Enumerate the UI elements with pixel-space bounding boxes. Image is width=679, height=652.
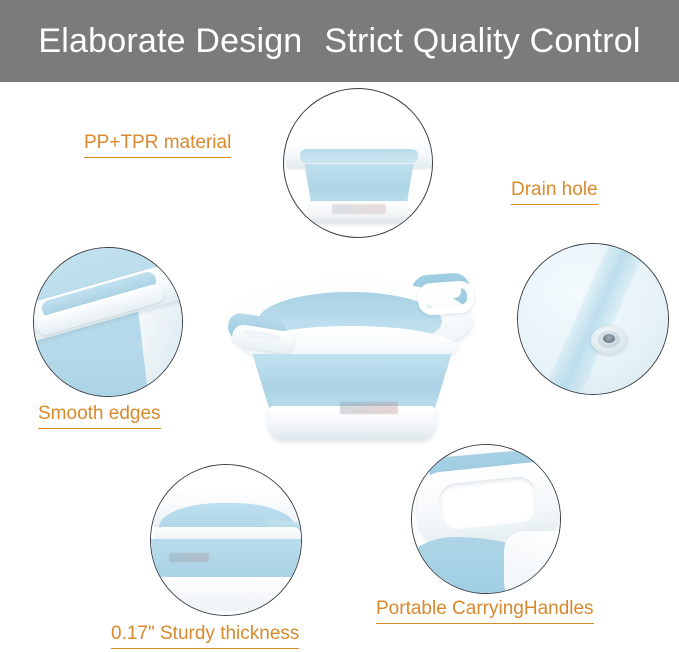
callout-image-drain (517, 243, 669, 395)
callout-label-edges: Smooth edges (38, 402, 161, 429)
drain-hole-opening (603, 334, 615, 343)
callout-label-thickness: 0.17" Sturdy thickness (111, 622, 299, 649)
callout-image-handles (411, 444, 561, 594)
header-title-right: Strict Quality Control (324, 22, 640, 61)
carrying-handle-illustration (412, 445, 560, 593)
wall-thickness-illustration (151, 465, 301, 615)
basin-white-wall (504, 531, 561, 594)
brand-logo (340, 402, 398, 414)
callout-image-material (283, 88, 433, 238)
smooth-edge-illustration (34, 248, 182, 396)
callout-label-material: PP+TPR material (84, 131, 231, 158)
basin-inner-surface (300, 149, 418, 163)
callout-image-thickness (150, 464, 302, 616)
handle-right-white (417, 280, 475, 316)
basin-base-white (153, 577, 302, 611)
basin-front-illustration (284, 89, 432, 237)
page-title: Elaborate Design Strict Quality Control (0, 0, 679, 82)
product-image (222, 272, 480, 452)
drain-hole-illustration (518, 244, 668, 394)
brand-logo (169, 553, 209, 562)
infographic-page: Elaborate Design Strict Quality Control … (0, 0, 679, 652)
brand-logo (332, 204, 386, 214)
callout-label-drain: Drain hole (511, 178, 598, 205)
callout-label-handles: Portable CarryingHandles (376, 597, 594, 624)
callout-image-edges (33, 247, 183, 397)
header-title-left: Elaborate Design (38, 22, 302, 61)
